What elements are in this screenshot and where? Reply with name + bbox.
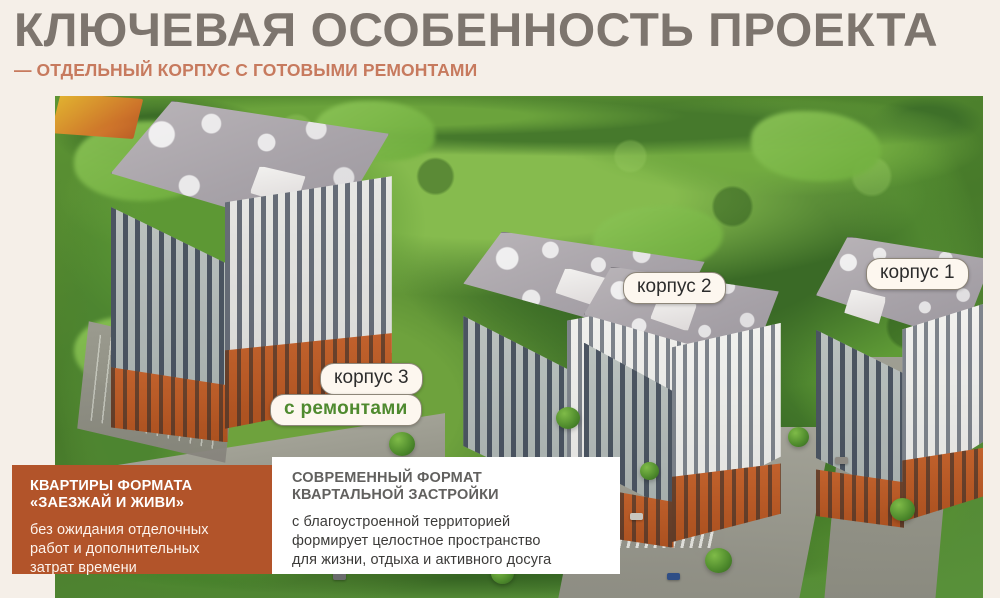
panel-heading-line-2: КВАРТАЛЬНОЙ ЗАСТРОЙКИ [292,487,606,504]
panel-body-line-3: для жизни, отдыха и активного досуга [292,551,606,570]
panel-heading: КВАРТИРЫ ФОРМАТА «ЗАЕЗЖАЙ И ЖИВИ» [30,478,257,512]
panel-body-line-2: формирует целостное пространство [292,532,606,551]
panel-heading-line-1: СОВРЕМЕННЫЙ ФОРМАТ [292,470,606,487]
car [667,573,680,580]
panel-body: без ожидания отделочных работ и дополнит… [30,521,257,578]
callout-korpus-3[interactable]: корпус 3 [320,363,423,395]
panel-body-line-1: с благоустроенной территорией [292,513,606,532]
callout-korpus-1[interactable]: корпус 1 [866,258,969,290]
slide-header: КЛЮЧЕВАЯ ОСОБЕННОСТЬ ПРОЕКТА — ОТДЕЛЬНЫЙ… [0,0,1000,96]
panel-heading-line-1: КВАРТИРЫ ФОРМАТА [30,478,257,495]
car [835,457,848,464]
panel-body: с благоустроенной территорией формирует … [292,513,606,570]
callout-s-remontami[interactable]: с ремонтами [270,394,422,426]
car [630,513,643,520]
panel-heading-line-2: «ЗАЕЗЖАЙ И ЖИВИ» [30,495,257,512]
tree [705,548,732,573]
tree [890,498,915,521]
tree [640,462,659,480]
info-panel-ready-apartments: КВАРТИРЫ ФОРМАТА «ЗАЕЗЖАЙ И ЖИВИ» без ож… [12,465,273,574]
callout-korpus-2[interactable]: корпус 2 [623,272,726,304]
panel-body-line-3: затрат времени [30,559,257,578]
panel-body-line-2: работ и дополнительных [30,540,257,559]
info-panel-modern-format: СОВРЕМЕННЫЙ ФОРМАТ КВАРТАЛЬНОЙ ЗАСТРОЙКИ… [272,457,620,574]
page-subtitle: — ОТДЕЛЬНЫЙ КОРПУС С ГОТОВЫМИ РЕМОНТАМИ [14,59,477,81]
building-base [672,463,781,542]
panel-body-line-1: без ожидания отделочных [30,521,257,540]
panel-heading: СОВРЕМЕННЫЙ ФОРМАТ КВАРТАЛЬНОЙ ЗАСТРОЙКИ [292,470,606,504]
page-title: КЛЮЧЕВАЯ ОСОБЕННОСТЬ ПРОЕКТА [14,2,1000,58]
